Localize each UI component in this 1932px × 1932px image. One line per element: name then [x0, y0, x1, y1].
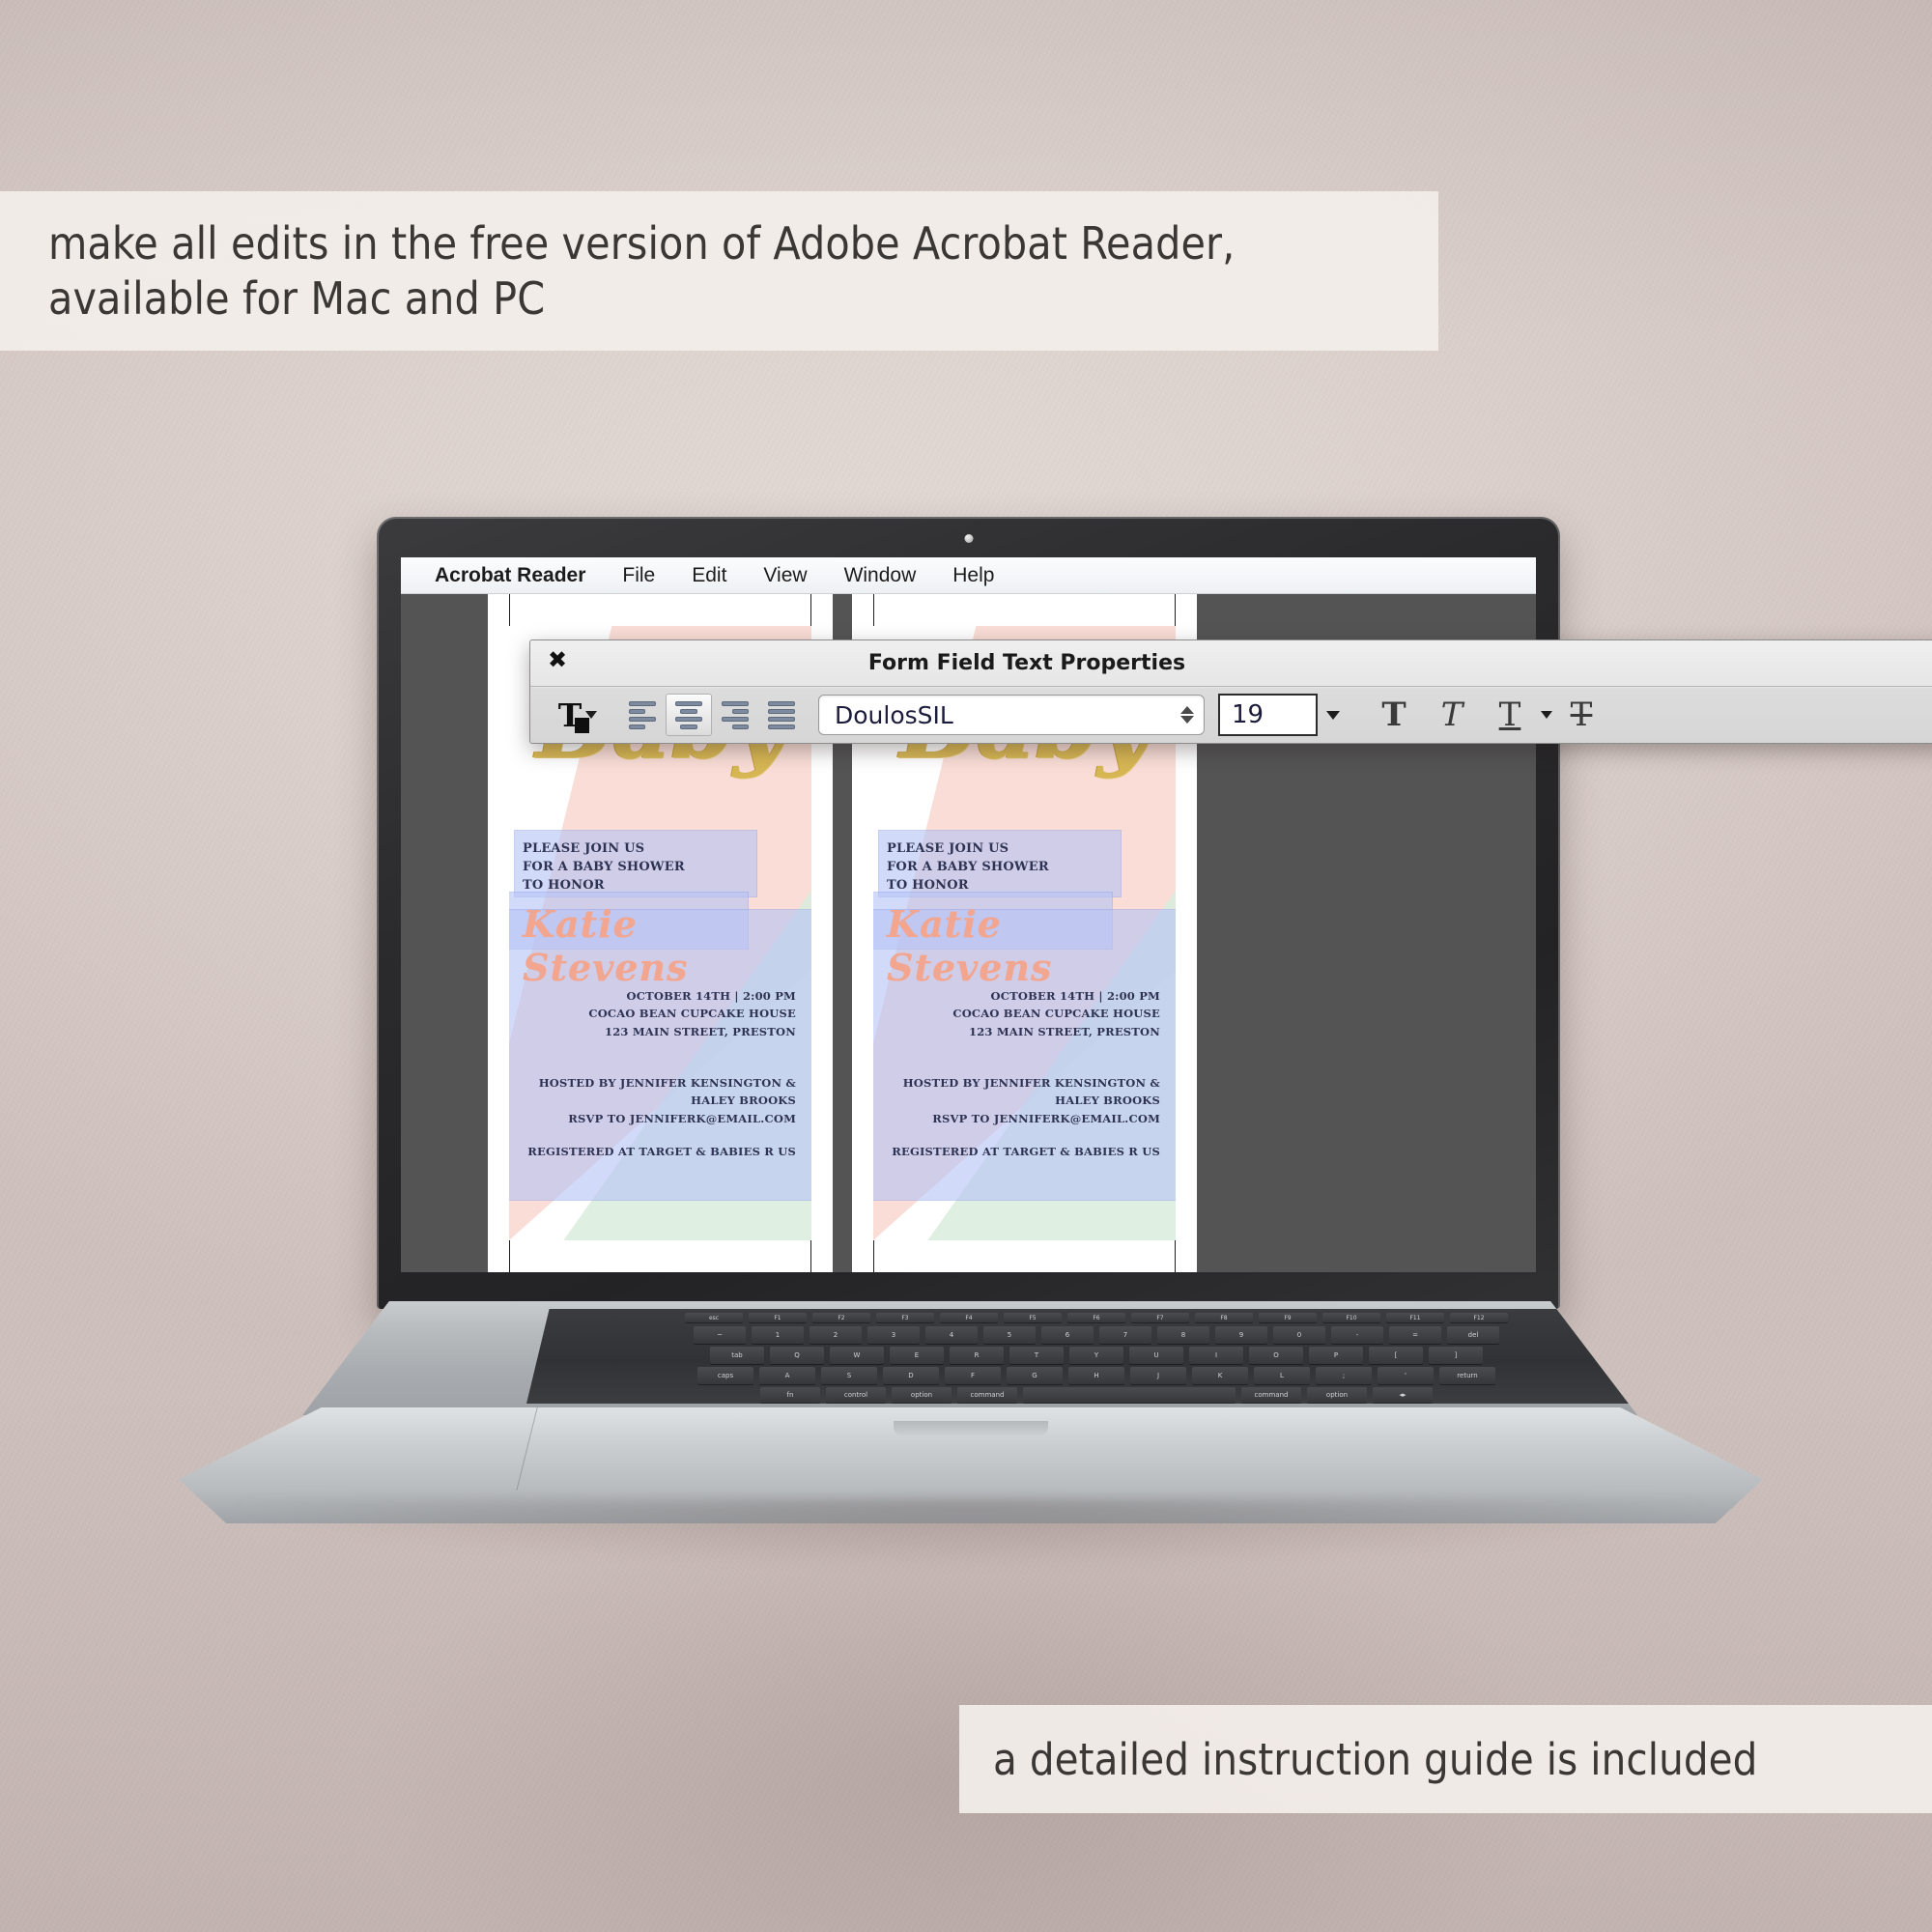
key-f5[interactable]: F5	[1004, 1313, 1062, 1322]
modifier-key-row[interactable]: fn control option command command option…	[526, 1387, 1666, 1403]
macos-menubar[interactable]: Acrobat Reader File Edit View Window Hel…	[401, 557, 1536, 594]
font-size-chevron-down-icon[interactable]	[1326, 711, 1340, 720]
key-s[interactable]: S	[821, 1367, 877, 1384]
key-tilde[interactable]: ~	[694, 1326, 746, 1344]
number-key-row[interactable]: ~ 1 2 3 4 5 6 7 8 9 0 - = del	[526, 1326, 1666, 1344]
key-i[interactable]: I	[1189, 1347, 1243, 1364]
key-command-left[interactable]: command	[957, 1387, 1017, 1403]
laptop-lid: Acrobat Reader File Edit View Window Hel…	[377, 517, 1560, 1309]
detail-line-2: COCAO BEAN CUPCAKE HOUSE	[952, 1005, 1160, 1022]
key-option-right[interactable]: option	[1307, 1387, 1367, 1403]
key-esc[interactable]: esc	[685, 1313, 743, 1322]
key-e[interactable]: E	[890, 1347, 944, 1364]
key-q[interactable]: Q	[770, 1347, 824, 1364]
dialog-toolbar[interactable]: T DoulosSIL 1	[530, 687, 1932, 743]
key-space[interactable]	[1023, 1387, 1236, 1403]
key-f11[interactable]: F11	[1386, 1313, 1444, 1322]
card-event-details: OCTOBER 14TH | 2:00 PM COCAO BEAN CUPCAK…	[588, 987, 796, 1040]
laptop-keyboard-deck: esc F1 F2 F3 F4 F5 F6 F7 F8 F9 F10 F11 F…	[302, 1301, 1637, 1415]
key-k[interactable]: K	[1192, 1367, 1248, 1384]
detail-line-1: OCTOBER 14TH | 2:00 PM	[588, 987, 796, 1005]
key-f6[interactable]: F6	[1067, 1313, 1125, 1322]
font-size-input[interactable]: 19	[1218, 694, 1318, 736]
card-registry: REGISTERED AT TARGET & BABIES R US	[892, 1145, 1160, 1158]
key-f12[interactable]: F12	[1450, 1313, 1508, 1322]
text-cursor-icon: T	[558, 699, 582, 731]
key-o[interactable]: O	[1249, 1347, 1303, 1364]
menu-item-view[interactable]: View	[763, 564, 807, 587]
align-center-button[interactable]	[666, 694, 712, 736]
key-option-left[interactable]: option	[892, 1387, 952, 1403]
card-invite-text: PLEASE JOIN US FOR A BABY SHOWER TO HONO…	[523, 840, 685, 895]
hosted-line-1: HOSTED BY JENNIFER KENSINGTON & HALEY BR…	[509, 1074, 796, 1110]
key-f1[interactable]: F1	[749, 1313, 807, 1322]
key-caps-lock[interactable]: caps	[697, 1367, 753, 1384]
hosted-line-1: HOSTED BY JENNIFER KENSINGTON & HALEY BR…	[873, 1074, 1160, 1110]
caption-top-line-2: available for Mac and PC	[48, 272, 545, 325]
key-4[interactable]: 4	[925, 1326, 978, 1344]
card-event-details: OCTOBER 14TH | 2:00 PM COCAO BEAN CUPCAK…	[952, 987, 1160, 1040]
key-l[interactable]: L	[1254, 1367, 1310, 1384]
key-u[interactable]: U	[1129, 1347, 1183, 1364]
laptop-drop-shadow	[237, 1499, 1705, 1567]
invite-line-3: TO HONOR	[887, 877, 1049, 895]
invite-line-2: FOR A BABY SHOWER	[523, 859, 685, 877]
strikethrough-button[interactable]: T	[1552, 693, 1610, 737]
keyboard[interactable]: esc F1 F2 F3 F4 F5 F6 F7 F8 F9 F10 F11 F…	[526, 1309, 1666, 1404]
card-honoree-name: Katie Stevens	[523, 902, 811, 989]
key-7[interactable]: 7	[1099, 1326, 1151, 1344]
key-f9[interactable]: F9	[1259, 1313, 1317, 1322]
invite-line-2: FOR A BABY SHOWER	[887, 859, 1049, 877]
key-minus[interactable]: -	[1331, 1326, 1383, 1344]
caption-top-text: make all edits in the free version of Ad…	[48, 216, 1235, 325]
menu-item-acrobat-reader[interactable]: Acrobat Reader	[435, 564, 585, 587]
key-f10[interactable]: F10	[1322, 1313, 1380, 1322]
align-left-icon	[629, 701, 656, 729]
font-family-select[interactable]: DoulosSIL	[818, 695, 1205, 735]
key-equals[interactable]: =	[1389, 1326, 1441, 1344]
lid-open-notch	[894, 1421, 1048, 1436]
font-size-value: 19	[1232, 700, 1264, 729]
key-quote[interactable]: '	[1378, 1367, 1434, 1384]
key-d[interactable]: D	[883, 1367, 939, 1384]
key-h[interactable]: H	[1068, 1367, 1124, 1384]
key-f4[interactable]: F4	[940, 1313, 998, 1322]
align-right-button[interactable]	[712, 694, 758, 736]
bold-button[interactable]: T	[1365, 693, 1423, 737]
card-honoree-name: Katie Stevens	[887, 902, 1176, 989]
key-y[interactable]: Y	[1069, 1347, 1123, 1364]
detail-line-3: 123 MAIN STREET, PRESTON	[588, 1023, 796, 1040]
key-delete[interactable]: del	[1447, 1326, 1499, 1344]
form-field-text-properties-dialog[interactable]: ✖ Form Field Text Properties T	[529, 639, 1932, 744]
key-2[interactable]: 2	[810, 1326, 862, 1344]
invite-line-1: PLEASE JOIN US	[523, 840, 685, 859]
key-r[interactable]: R	[950, 1347, 1004, 1364]
key-8[interactable]: 8	[1157, 1326, 1209, 1344]
key-j[interactable]: J	[1130, 1367, 1186, 1384]
key-f2[interactable]: F2	[812, 1313, 870, 1322]
menu-item-window[interactable]: Window	[844, 564, 917, 587]
function-key-row[interactable]: esc F1 F2 F3 F4 F5 F6 F7 F8 F9 F10 F11 F…	[526, 1313, 1666, 1322]
key-t[interactable]: T	[1009, 1347, 1064, 1364]
hosted-line-2: RSVP TO JENNIFERK@EMAIL.COM	[509, 1110, 796, 1127]
align-left-button[interactable]	[619, 694, 666, 736]
dialog-title: Form Field Text Properties	[530, 651, 1932, 675]
menu-item-edit[interactable]: Edit	[692, 564, 726, 587]
key-g[interactable]: G	[1007, 1367, 1063, 1384]
detail-line-2: COCAO BEAN CUPCAKE HOUSE	[588, 1005, 796, 1022]
laptop-base: esc F1 F2 F3 F4 F5 F6 F7 F8 F9 F10 F11 F…	[179, 1301, 1763, 1529]
key-bracket-right[interactable]: ]	[1429, 1347, 1483, 1364]
align-justify-icon	[768, 701, 795, 729]
key-1[interactable]: 1	[752, 1326, 804, 1344]
text-tool-button[interactable]: T	[546, 694, 610, 736]
webcam-icon	[964, 534, 973, 543]
caption-banner-bottom: a detailed instruction guide is included	[959, 1705, 1932, 1813]
home-key-row[interactable]: caps A S D F G H J K L ; ' return	[526, 1367, 1666, 1384]
align-center-icon	[675, 701, 702, 729]
key-fn[interactable]: fn	[760, 1387, 820, 1403]
card-registry: REGISTERED AT TARGET & BABIES R US	[527, 1145, 796, 1158]
key-a[interactable]: A	[759, 1367, 815, 1384]
key-3[interactable]: 3	[867, 1326, 920, 1344]
stepper-icon[interactable]	[1180, 706, 1194, 724]
dialog-titlebar[interactable]: ✖ Form Field Text Properties	[530, 640, 1932, 687]
card-host-details: HOSTED BY JENNIFER KENSINGTON & HALEY BR…	[873, 1074, 1160, 1127]
hosted-line-2: RSVP TO JENNIFERK@EMAIL.COM	[873, 1110, 1160, 1127]
card-invite-text: PLEASE JOIN US FOR A BABY SHOWER TO HONO…	[887, 840, 1049, 895]
key-command-right[interactable]: command	[1241, 1387, 1301, 1403]
key-return[interactable]: return	[1439, 1367, 1495, 1384]
invite-line-3: TO HONOR	[523, 877, 685, 895]
key-control[interactable]: control	[826, 1387, 886, 1403]
caption-banner-top: make all edits in the free version of Ad…	[0, 191, 1438, 351]
key-arrows[interactable]: ◂▸	[1373, 1387, 1433, 1403]
detail-line-1: OCTOBER 14TH | 2:00 PM	[952, 987, 1160, 1005]
align-justify-button[interactable]	[758, 694, 805, 736]
underline-chevron-down-icon[interactable]	[1541, 711, 1552, 719]
align-right-icon	[722, 701, 749, 729]
invite-line-1: PLEASE JOIN US	[887, 840, 1049, 859]
underline-button[interactable]: T	[1481, 693, 1539, 737]
key-9[interactable]: 9	[1215, 1326, 1267, 1344]
caption-top-line-1: make all edits in the free version of Ad…	[48, 217, 1235, 270]
menu-item-file[interactable]: File	[622, 564, 655, 587]
detail-line-3: 123 MAIN STREET, PRESTON	[952, 1023, 1160, 1040]
card-host-details: HOSTED BY JENNIFER KENSINGTON & HALEY BR…	[509, 1074, 796, 1127]
key-0[interactable]: 0	[1273, 1326, 1325, 1344]
key-w[interactable]: W	[830, 1347, 884, 1364]
caption-bottom-text: a detailed instruction guide is included	[993, 1734, 1757, 1785]
key-p[interactable]: P	[1309, 1347, 1363, 1364]
key-semicolon[interactable]: ;	[1316, 1367, 1372, 1384]
font-family-value: DoulosSIL	[835, 701, 953, 729]
key-tab[interactable]: tab	[710, 1347, 764, 1364]
key-f3[interactable]: F3	[876, 1313, 934, 1322]
key-bracket-left[interactable]: [	[1369, 1347, 1423, 1364]
key-f7[interactable]: F7	[1131, 1313, 1189, 1322]
menu-item-help[interactable]: Help	[952, 564, 994, 587]
key-f[interactable]: F	[945, 1367, 1001, 1384]
italic-button[interactable]: T	[1423, 693, 1481, 737]
qwerty-key-row[interactable]: tab Q W E R T Y U I O P [ ]	[526, 1347, 1666, 1364]
key-6[interactable]: 6	[1041, 1326, 1094, 1344]
key-5[interactable]: 5	[983, 1326, 1036, 1344]
key-f8[interactable]: F8	[1195, 1313, 1253, 1322]
